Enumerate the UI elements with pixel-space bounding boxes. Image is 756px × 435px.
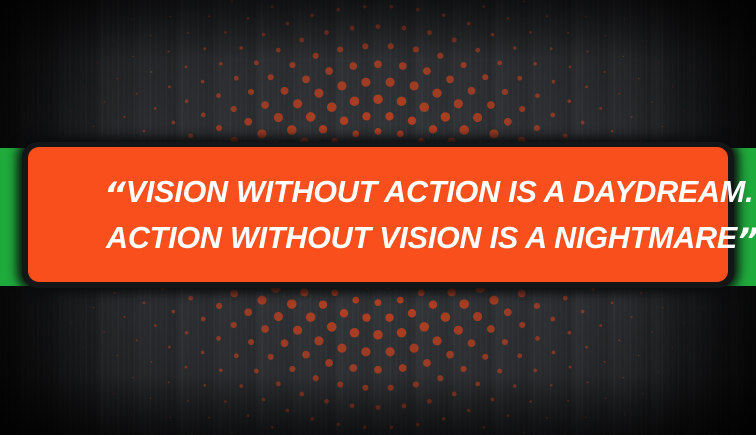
quote-line-2: ACTION WITHOUT VISION IS A NIGHTMARE” bbox=[46, 215, 714, 261]
quote-banner: “VISION WITHOUT ACTION IS A DAYDREAM. AC… bbox=[28, 147, 728, 282]
quote-line-2-text: ACTION WITHOUT VISION IS A NIGHTMARE bbox=[106, 221, 737, 255]
quote-graphic-canvas: “VISION WITHOUT ACTION IS A DAYDREAM. AC… bbox=[0, 0, 756, 435]
quote-line-1: “VISION WITHOUT ACTION IS A DAYDREAM. bbox=[46, 169, 714, 215]
quote-banner-inner: “VISION WITHOUT ACTION IS A DAYDREAM. AC… bbox=[28, 169, 728, 261]
quote-line-1-text: VISION WITHOUT ACTION IS A DAYDREAM. bbox=[126, 175, 754, 209]
open-quote-mark: “ bbox=[104, 175, 126, 215]
close-quote-mark: ” bbox=[737, 221, 756, 261]
